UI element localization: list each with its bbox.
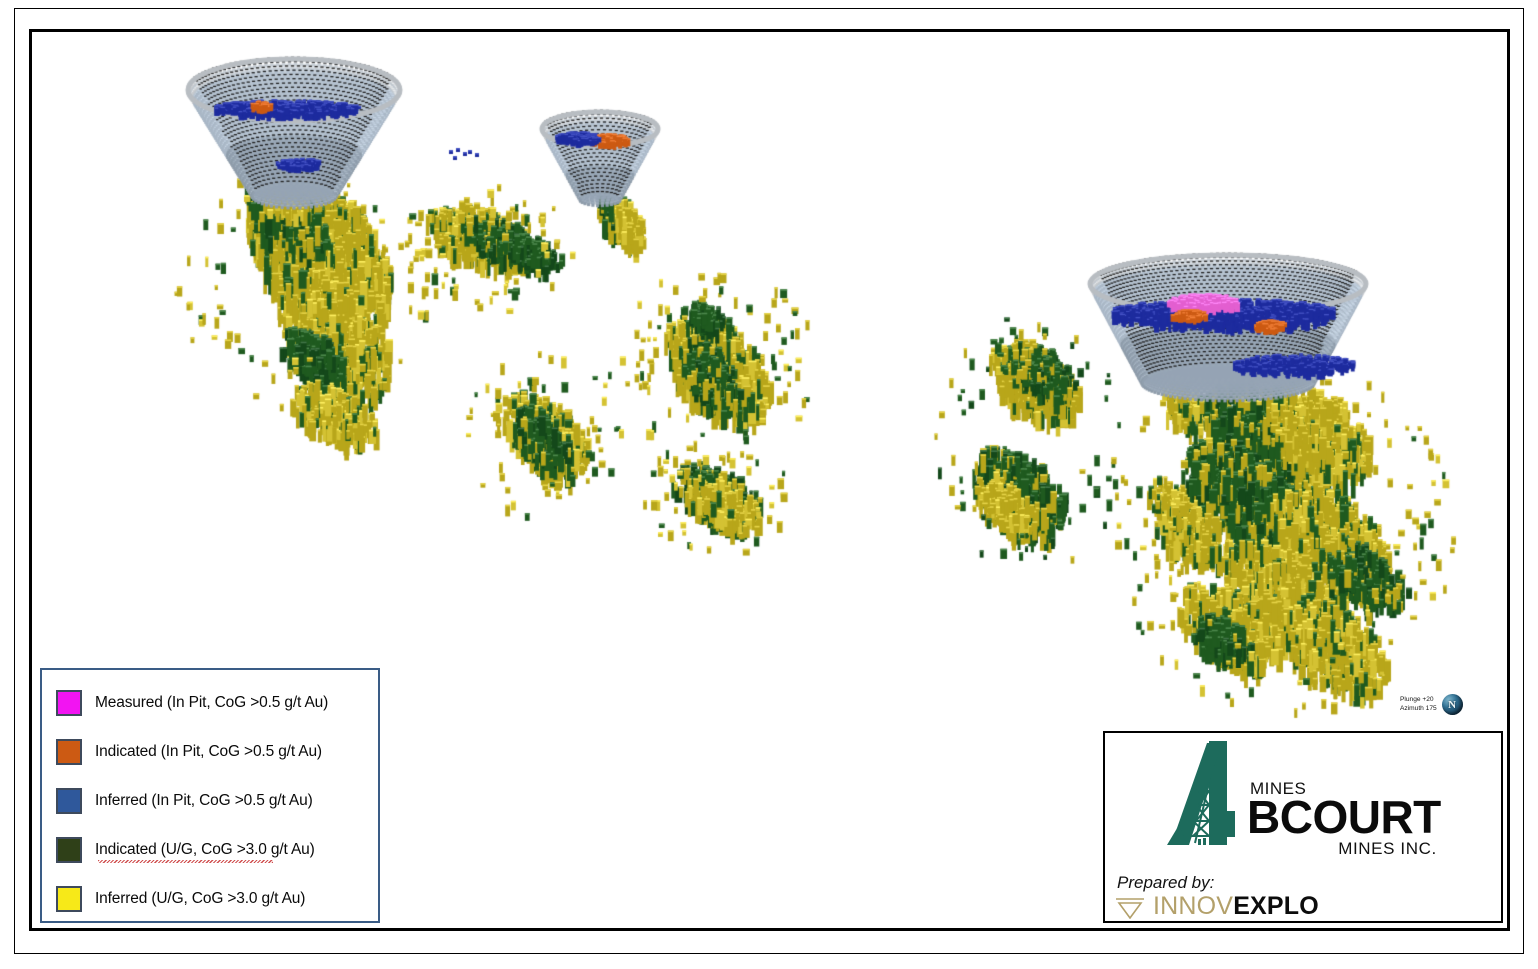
legend-item-measured-in-pit: Measured (In Pit, CoG >0.5 g/t Au)	[42, 678, 378, 727]
north-globe-icon: N	[1442, 694, 1463, 715]
innovexplo-wordmark: INNOVEXPLO	[1153, 894, 1319, 919]
legend-label-indicated-ug: Indicated (U/G, CoG >3.0 g/t Au)	[95, 841, 315, 859]
logo-panel: MINES BCOURT MINES INC. Prepared by: INN…	[1103, 731, 1503, 923]
abcourt-name: BCOURT	[1247, 794, 1441, 840]
legend-box: Measured (In Pit, CoG >0.5 g/t Au) Indic…	[40, 668, 380, 923]
legend-item-inferred-ug: Inferred (U/G, CoG >3.0 g/t Au)	[42, 874, 378, 923]
abcourt-wordmark: MINES BCOURT MINES INC.	[1247, 739, 1441, 859]
orientation-text: Plunge +20 Azimuth 175	[1400, 696, 1437, 713]
legend-swatch-indicated-in-pit	[56, 739, 82, 765]
plunge-label: Plunge +20	[1400, 696, 1437, 704]
legend-label-indicated-in-pit: Indicated (In Pit, CoG >0.5 g/t Au)	[95, 743, 322, 761]
innov-part2: EXPLO	[1233, 892, 1319, 920]
legend-item-indicated-in-pit: Indicated (In Pit, CoG >0.5 g/t Au)	[42, 727, 378, 776]
legend-item-indicated-ug: Indicated (U/G, CoG >3.0 g/t Au)	[42, 825, 378, 874]
north-letter: N	[1442, 694, 1463, 715]
legend-swatch-measured-in-pit	[56, 690, 82, 716]
legend-label-inferred-ug: Inferred (U/G, CoG >3.0 g/t Au)	[95, 890, 305, 908]
figure-page: Measured (In Pit, CoG >0.5 g/t Au) Indic…	[0, 0, 1538, 969]
legend-swatch-inferred-ug	[56, 886, 82, 912]
orientation-indicator: Plunge +20 Azimuth 175 N	[1400, 694, 1463, 715]
innov-part1: INNOV	[1153, 892, 1233, 920]
headframe-a-icon	[1165, 739, 1251, 851]
legend-swatch-indicated-ug	[56, 837, 82, 863]
legend-label-inferred-in-pit: Inferred (In Pit, CoG >0.5 g/t Au)	[95, 792, 313, 810]
prepared-by-label: Prepared by:	[1117, 873, 1214, 893]
legend-swatch-inferred-in-pit	[56, 788, 82, 814]
innovexplo-logo: INNOVEXPLO	[1115, 893, 1319, 919]
azimuth-label: Azimuth 175	[1400, 705, 1437, 713]
legend-item-inferred-in-pit: Inferred (In Pit, CoG >0.5 g/t Au)	[42, 776, 378, 825]
abcourt-logo: MINES BCOURT MINES INC.	[1165, 739, 1441, 859]
inverted-triangle-icon	[1115, 893, 1145, 919]
legend-label-measured-in-pit: Measured (In Pit, CoG >0.5 g/t Au)	[95, 694, 328, 712]
